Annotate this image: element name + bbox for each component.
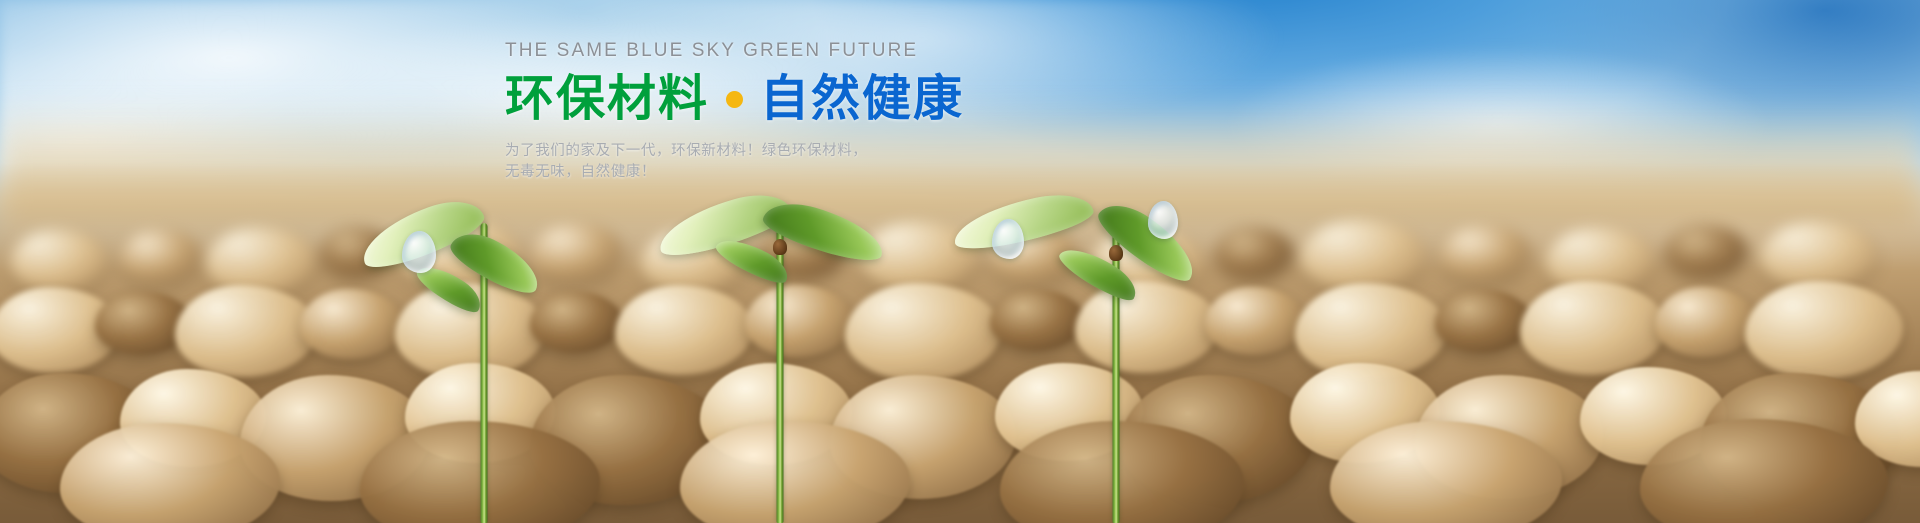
headline-green-text: 环保材料 — [505, 72, 709, 127]
dew-drop-secondary — [1148, 201, 1178, 239]
seed-node — [773, 239, 787, 255]
hero-banner: THE SAME BLUE SKY GREEN FUTURE 环保材料 自然健康… — [0, 0, 1920, 523]
seed-node — [1109, 245, 1123, 261]
banner-headline: 环保材料 自然健康 — [505, 72, 1425, 127]
headline-blue-text: 自然健康 — [760, 72, 964, 127]
sprout-center — [700, 163, 900, 523]
subtitle-line-1: 为了我们的家及下一代，环保新材料！绿色环保材料， — [505, 141, 1425, 162]
sprout-right — [1020, 163, 1240, 523]
banner-eyebrow: THE SAME BLUE SKY GREEN FUTURE — [505, 40, 1425, 62]
subtitle-line-2: 无毒无味，自然健康！ — [505, 162, 1425, 183]
dew-drop — [992, 219, 1024, 259]
soil-clods-far — [0, 163, 1920, 523]
sprout-left — [420, 178, 600, 523]
soil-ground — [0, 163, 1920, 523]
soil-clods-near — [0, 163, 1920, 523]
dew-drop — [402, 231, 436, 273]
orange-dot-icon — [726, 91, 743, 108]
soil-clods-mid — [0, 163, 1920, 523]
banner-copy: THE SAME BLUE SKY GREEN FUTURE 环保材料 自然健康… — [505, 40, 1425, 183]
banner-subtitle: 为了我们的家及下一代，环保新材料！绿色环保材料， 无毒无味，自然健康！ — [505, 141, 1425, 183]
